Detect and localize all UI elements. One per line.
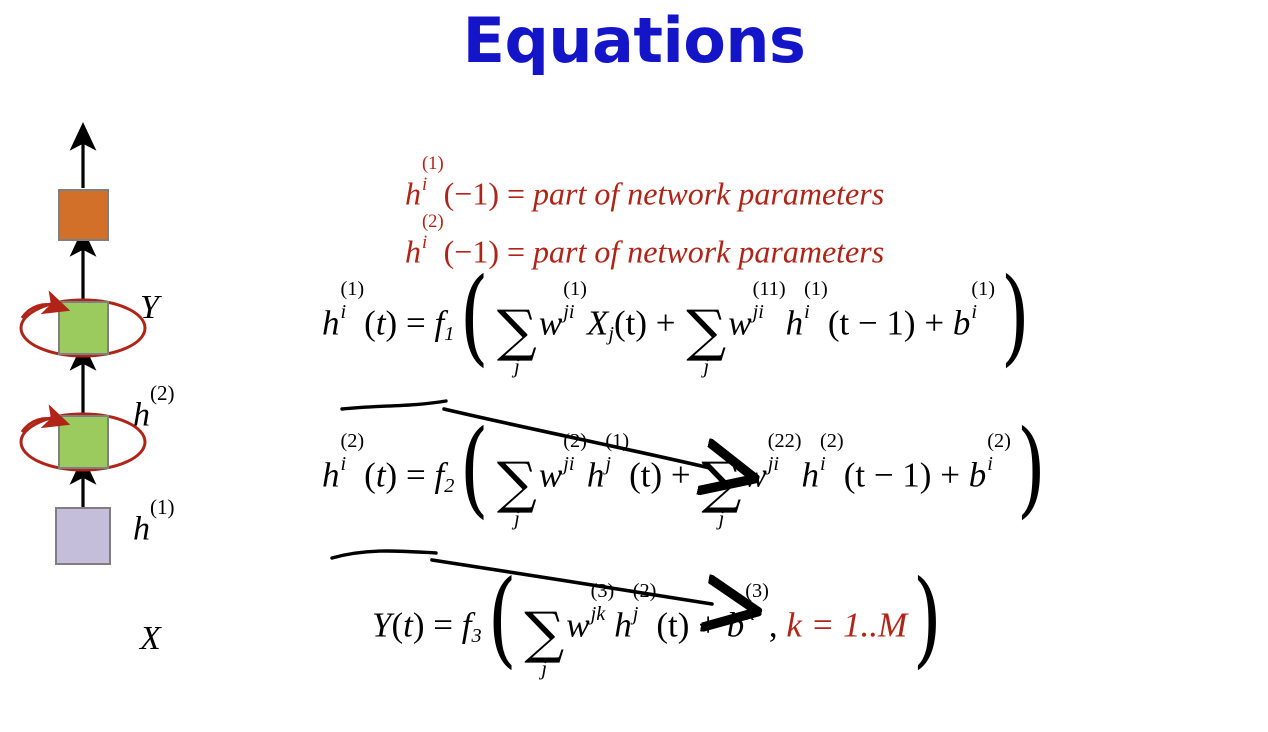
eq1-f-sub: 1 — [444, 323, 454, 345]
eq3-factor1-indices: (2)j — [633, 600, 657, 641]
node-box-output — [59, 190, 108, 240]
eq-init-h1-sup: (1) — [422, 155, 444, 174]
eq1-factor2: h — [786, 303, 804, 342]
eq3-bias-indices: (3)k — [745, 600, 769, 641]
equation-init-h1: h(1)i(−1) = part of network parameters — [405, 172, 884, 210]
eq3-w1: w — [566, 605, 589, 644]
slide-root: Equations — [0, 0, 1268, 732]
eq-init-h2-rhs: part of network parameters — [533, 234, 884, 270]
diagram-label-hidden1-base: h — [133, 510, 150, 547]
eq-init-h2-sup: (2) — [422, 213, 444, 232]
diagram-label-hidden2: h(2) — [133, 394, 175, 434]
eq2-lhs-sub: i — [341, 454, 365, 474]
eq1-w2: w — [728, 303, 751, 342]
eq2-factor1-indices: (1)j — [605, 450, 629, 491]
diagram-label-output: Y — [140, 289, 159, 327]
eq2-sum-1-index: j — [495, 508, 539, 529]
eq3-w1-indices: (3)jk — [591, 600, 615, 641]
eq1-factor2-arg: (t − 1) — [828, 303, 916, 342]
eq2-factor1-sup: (1) — [605, 431, 629, 451]
eq2-factor1: h — [587, 455, 605, 494]
eq2-f-sub: 2 — [444, 475, 454, 497]
eq3-factor1-arg: (t) — [656, 605, 689, 644]
eq3-factor1: h — [614, 605, 632, 644]
eq2-lhs-sup: (2) — [341, 431, 365, 451]
diagram-label-input: X — [140, 620, 161, 658]
eq1-bias-sup: (1) — [971, 279, 995, 299]
diagram-label-hidden1-sup: (1) — [150, 495, 175, 519]
eq3-f-name: f — [462, 605, 472, 644]
eq1-sum-1-index: j — [495, 356, 539, 377]
eq3-factor1-sup: (2) — [633, 581, 657, 601]
eq2-bias-sup: (2) — [987, 431, 1011, 451]
eq1-lhs-indices: (1)i — [341, 298, 365, 339]
equation-output-update: Y(t) = f3(∑jw(3)jkh(2)j(t) + b(3)k, k = … — [372, 600, 948, 651]
eq3-bias-sup: (3) — [745, 581, 769, 601]
eq1-factor2-sub: i — [804, 302, 828, 322]
eq2-w1-sup: (2) — [563, 431, 587, 451]
eq1-bias-sub: i — [971, 302, 995, 322]
eq3-bias: b — [727, 605, 745, 644]
eq-init-h1-rhs: part of network parameters — [533, 176, 884, 212]
eq1-sum-2: ∑j — [684, 304, 728, 349]
eq2-w1: w — [539, 455, 562, 494]
eq1-factor2-indices: (1)i — [804, 298, 828, 339]
eq1-sum-1: ∑j — [495, 304, 539, 349]
eq2-factor2-arg: (t − 1) — [844, 455, 932, 494]
eq1-w1-indices: (1)ji — [563, 298, 587, 339]
equation-hidden2-update: h(2)i(t) = f2(∑jw(2)jih(1)j(t) + ∑jw(22)… — [322, 450, 1051, 501]
eq2-f-name: f — [434, 455, 444, 494]
node-box-hidden2 — [59, 302, 108, 354]
eq-init-h2-var: h — [405, 234, 421, 270]
eq1-w1-sub: ji — [563, 302, 587, 322]
eq1-w2-indices: (11)ji — [753, 298, 786, 339]
eq1-bias-indices: (1)i — [971, 298, 995, 339]
eq3-w1-sub: jk — [591, 604, 615, 624]
eq3-sum-1-index: j — [522, 658, 566, 679]
eq2-factor2-sub: i — [820, 454, 844, 474]
eq2-factor2-sup: (2) — [820, 431, 844, 451]
eq3-sum-1: ∑j — [522, 606, 566, 651]
node-box-hidden1 — [59, 416, 108, 468]
eq2-bias-indices: (2)i — [987, 450, 1011, 491]
eq1-w1-sup: (1) — [563, 279, 587, 299]
eq2-sum-1: ∑j — [495, 456, 539, 501]
eq-init-h2-equals: = — [507, 234, 525, 270]
eq1-f-name: f — [434, 303, 444, 342]
network-diagram: Y h(2) h(1) X — [0, 110, 250, 590]
eq2-factor2-indices: (2)i — [820, 450, 844, 491]
diagram-label-hidden1: h(1) — [133, 508, 175, 548]
eq2-sum-2: ∑j — [699, 456, 743, 501]
eq1-sum-2-index: j — [684, 356, 728, 377]
eq2-w2-sub: ji — [768, 454, 802, 474]
eq2-w2: w — [743, 455, 766, 494]
eq3-bias-sub: k — [745, 604, 769, 624]
eq2-w1-indices: (2)ji — [563, 450, 587, 491]
eq1-w2-sup: (11) — [753, 279, 786, 299]
eq2-bias: b — [969, 455, 987, 494]
eq1-factor2-sup: (1) — [804, 279, 828, 299]
eq2-factor2: h — [802, 455, 820, 494]
eq2-w2-sup: (22) — [768, 431, 802, 451]
eq1-w1: w — [539, 303, 562, 342]
eq3-f-sub: 3 — [472, 625, 482, 647]
eq1-factor1-arg: (t) — [614, 303, 647, 342]
equations-block: h(1)i(−1) = part of network parameters h… — [300, 150, 1268, 730]
eq2-factor1-sub: j — [605, 454, 629, 474]
page-title: Equations — [0, 8, 1268, 73]
eq1-factor1-sub: j — [608, 323, 614, 345]
eq2-factor1-arg: (t) — [629, 455, 662, 494]
eq-init-h1-equals: = — [507, 176, 525, 212]
eq2-w1-sub: ji — [563, 454, 587, 474]
eq-init-h1-indices: (1)i — [422, 172, 444, 209]
eq1-w2-sub: ji — [753, 302, 786, 322]
eq2-w2-indices: (22)ji — [768, 450, 802, 491]
eq-init-h1-sub: i — [422, 176, 444, 195]
eq2-bias-sub: i — [987, 454, 1011, 474]
eq-init-h2-sub: i — [422, 234, 444, 253]
eq1-lhs-sub: i — [341, 302, 365, 322]
node-box-input — [56, 508, 110, 564]
eq-init-h1-var: h — [405, 176, 421, 212]
diagram-label-hidden2-sup: (2) — [150, 381, 175, 405]
diagram-label-output-base: Y — [140, 289, 159, 326]
eq2-sum-2-index: j — [699, 508, 743, 529]
eq1-factor1: X — [587, 303, 608, 342]
eq3-factor1-sub: j — [633, 604, 657, 624]
eq2-lhs-indices: (2)i — [341, 450, 365, 491]
eq1-lhs-sup: (1) — [341, 279, 365, 299]
diagram-label-input-base: X — [140, 620, 161, 657]
eq-init-h2-indices: (2)i — [422, 230, 444, 267]
diagram-label-hidden2-base: h — [133, 396, 150, 433]
eq3-w1-sup: (3) — [591, 581, 615, 601]
eq3-range-note: k = 1..M — [786, 605, 907, 644]
equation-hidden1-update: fh(1)i(t) = f1(∑jw(1)jiXj(t) + ∑jw(11)ji… — [322, 298, 1036, 349]
eq-init-h1-arg: (−1) — [444, 176, 499, 212]
eq1-bias: b — [953, 303, 971, 342]
